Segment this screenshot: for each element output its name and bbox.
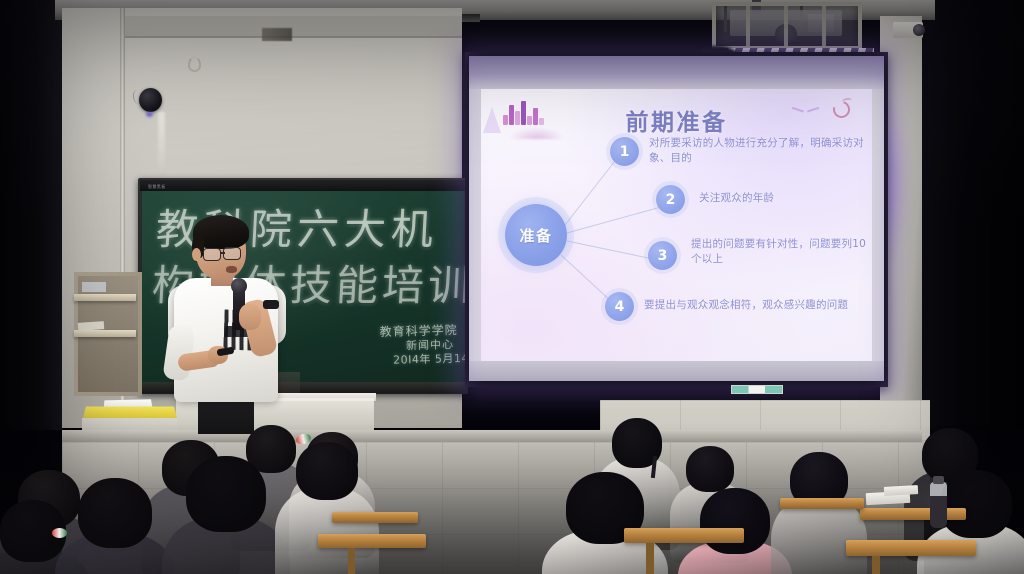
mindmap-text-2: 关注观众的年龄: [699, 191, 872, 206]
presenter-mouth: [226, 266, 237, 273]
screen-bottom-strip: [469, 361, 884, 381]
wooden-desk: [860, 508, 966, 520]
screen-top-band: [469, 56, 884, 89]
chalk-signature-dept: 新闻中心: [380, 338, 454, 353]
mindmap-text-3: 提出的问题要有针对性，问题要列10个以上: [691, 237, 869, 267]
desk-leg: [872, 556, 880, 574]
mindmap-node-4: 4: [605, 292, 634, 321]
presenter-hand-right: [239, 304, 261, 330]
wooden-desk: [846, 540, 976, 556]
classroom-scene: 智慧黑板 教科院六大机 构媒体技能培训 教育科学学院 新闻中心 20I4年 5月…: [0, 0, 1024, 574]
camera-lens-icon: [913, 24, 925, 36]
desk-leg: [646, 543, 654, 574]
bottle-cap-icon: [933, 476, 944, 484]
mindmap-node-2: 2: [656, 185, 685, 214]
projector-security-cage: [712, 2, 862, 50]
wooden-desk: [624, 528, 744, 543]
right-dark-wall: [920, 0, 1024, 430]
student-head: [186, 456, 266, 532]
mindmap-hub-node: 准备: [505, 204, 567, 266]
student-head: [296, 442, 358, 500]
notebook-icon: [884, 485, 918, 496]
wooden-desk: [318, 534, 426, 548]
student-head: [78, 478, 152, 548]
student-head: [686, 446, 734, 492]
eyeglasses-right-lens-icon: [223, 247, 241, 260]
wall-stain: [158, 112, 165, 174]
wooden-desk: [780, 498, 864, 509]
blackboard-top-bar: 智慧黑板: [140, 180, 466, 191]
wristwatch-icon: [263, 300, 279, 309]
student-head: [940, 470, 1012, 538]
student-head: [700, 488, 770, 554]
shelf-board: [74, 330, 136, 337]
mindmap-text-4: 要提出与观众观念相符，观众感兴趣的问题: [644, 298, 872, 313]
speaker-led-icon: [146, 112, 153, 117]
presenter-ear: [192, 248, 201, 261]
blackboard-brand-label: 智慧黑板: [148, 184, 166, 190]
projection-screen-surface: 前期准备 准备 1 对所要采访的人物进行充分了解，明确采访对象、目的 2 关注观…: [469, 56, 884, 381]
wall-top-band: [125, 16, 462, 38]
shelf-board: [74, 294, 136, 301]
chalk-signature: 教育科学学院 新闻中心 20I4年 5月14日: [379, 323, 458, 367]
mindmap-node-3: 3: [648, 241, 677, 270]
slide-title: 前期准备: [481, 103, 872, 137]
microphone-head-icon: [231, 278, 247, 294]
wall-smudge: [262, 28, 292, 41]
wall-hook: [188, 56, 201, 72]
water-bottle-icon: [930, 482, 947, 528]
wall-speaker-icon: [139, 88, 162, 112]
mindmap-hub-label: 准备: [519, 225, 552, 246]
desk-leg: [348, 548, 355, 574]
slide-canvas: 前期准备 准备 1 对所要采访的人物进行充分了解，明确采访对象、目的 2 关注观…: [481, 89, 872, 361]
wooden-desk: [332, 512, 418, 523]
student-torso: [275, 488, 379, 574]
mindmap-node-1: 1: [610, 137, 639, 166]
screen-brand-label: [731, 385, 783, 394]
left-dark-wall: [0, 0, 62, 430]
eyeglasses-left-lens-icon: [203, 248, 221, 261]
shelf-object: [82, 282, 106, 292]
chalk-signature-org: 教育科学学院: [379, 323, 457, 340]
eyeglasses-bridge-icon: [220, 252, 225, 254]
mindmap-text-1: 对所要采访的人物进行充分了解，明确采访对象、目的: [649, 136, 864, 166]
hair-scrunchie-icon: [52, 528, 67, 538]
